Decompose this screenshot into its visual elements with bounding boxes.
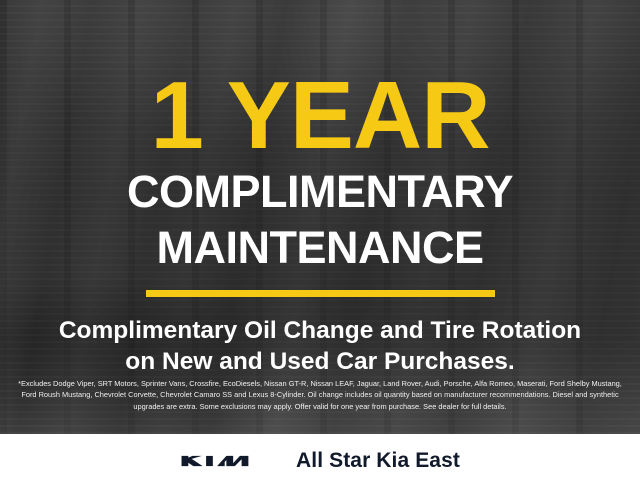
disclaimer-text: *Excludes Dodge Viper, SRT Motors, Sprin…: [12, 378, 628, 412]
yellow-divider-rule: [146, 290, 495, 297]
promotional-banner: 1 YEAR COMPLIMENTARY MAINTENANCE Complim…: [0, 0, 640, 488]
headline-maintenance: MAINTENANCE: [157, 224, 484, 272]
offer-description: Complimentary Oil Change and Tire Rotati…: [20, 315, 620, 378]
headline-complimentary: COMPLIMENTARY: [127, 168, 513, 216]
hero-section: 1 YEAR COMPLIMENTARY MAINTENANCE Complim…: [0, 0, 640, 434]
dealer-name: All Star Kia East: [296, 449, 460, 473]
headline-year: 1 YEAR: [150, 72, 489, 160]
hero-content: 1 YEAR COMPLIMENTARY MAINTENANCE Complim…: [0, 0, 640, 434]
kia-logo-icon: [180, 450, 266, 472]
offer-line-2: on New and Used Car Purchases.: [20, 346, 620, 377]
footer-bar: All Star Kia East: [0, 434, 640, 488]
offer-line-1: Complimentary Oil Change and Tire Rotati…: [20, 315, 620, 346]
